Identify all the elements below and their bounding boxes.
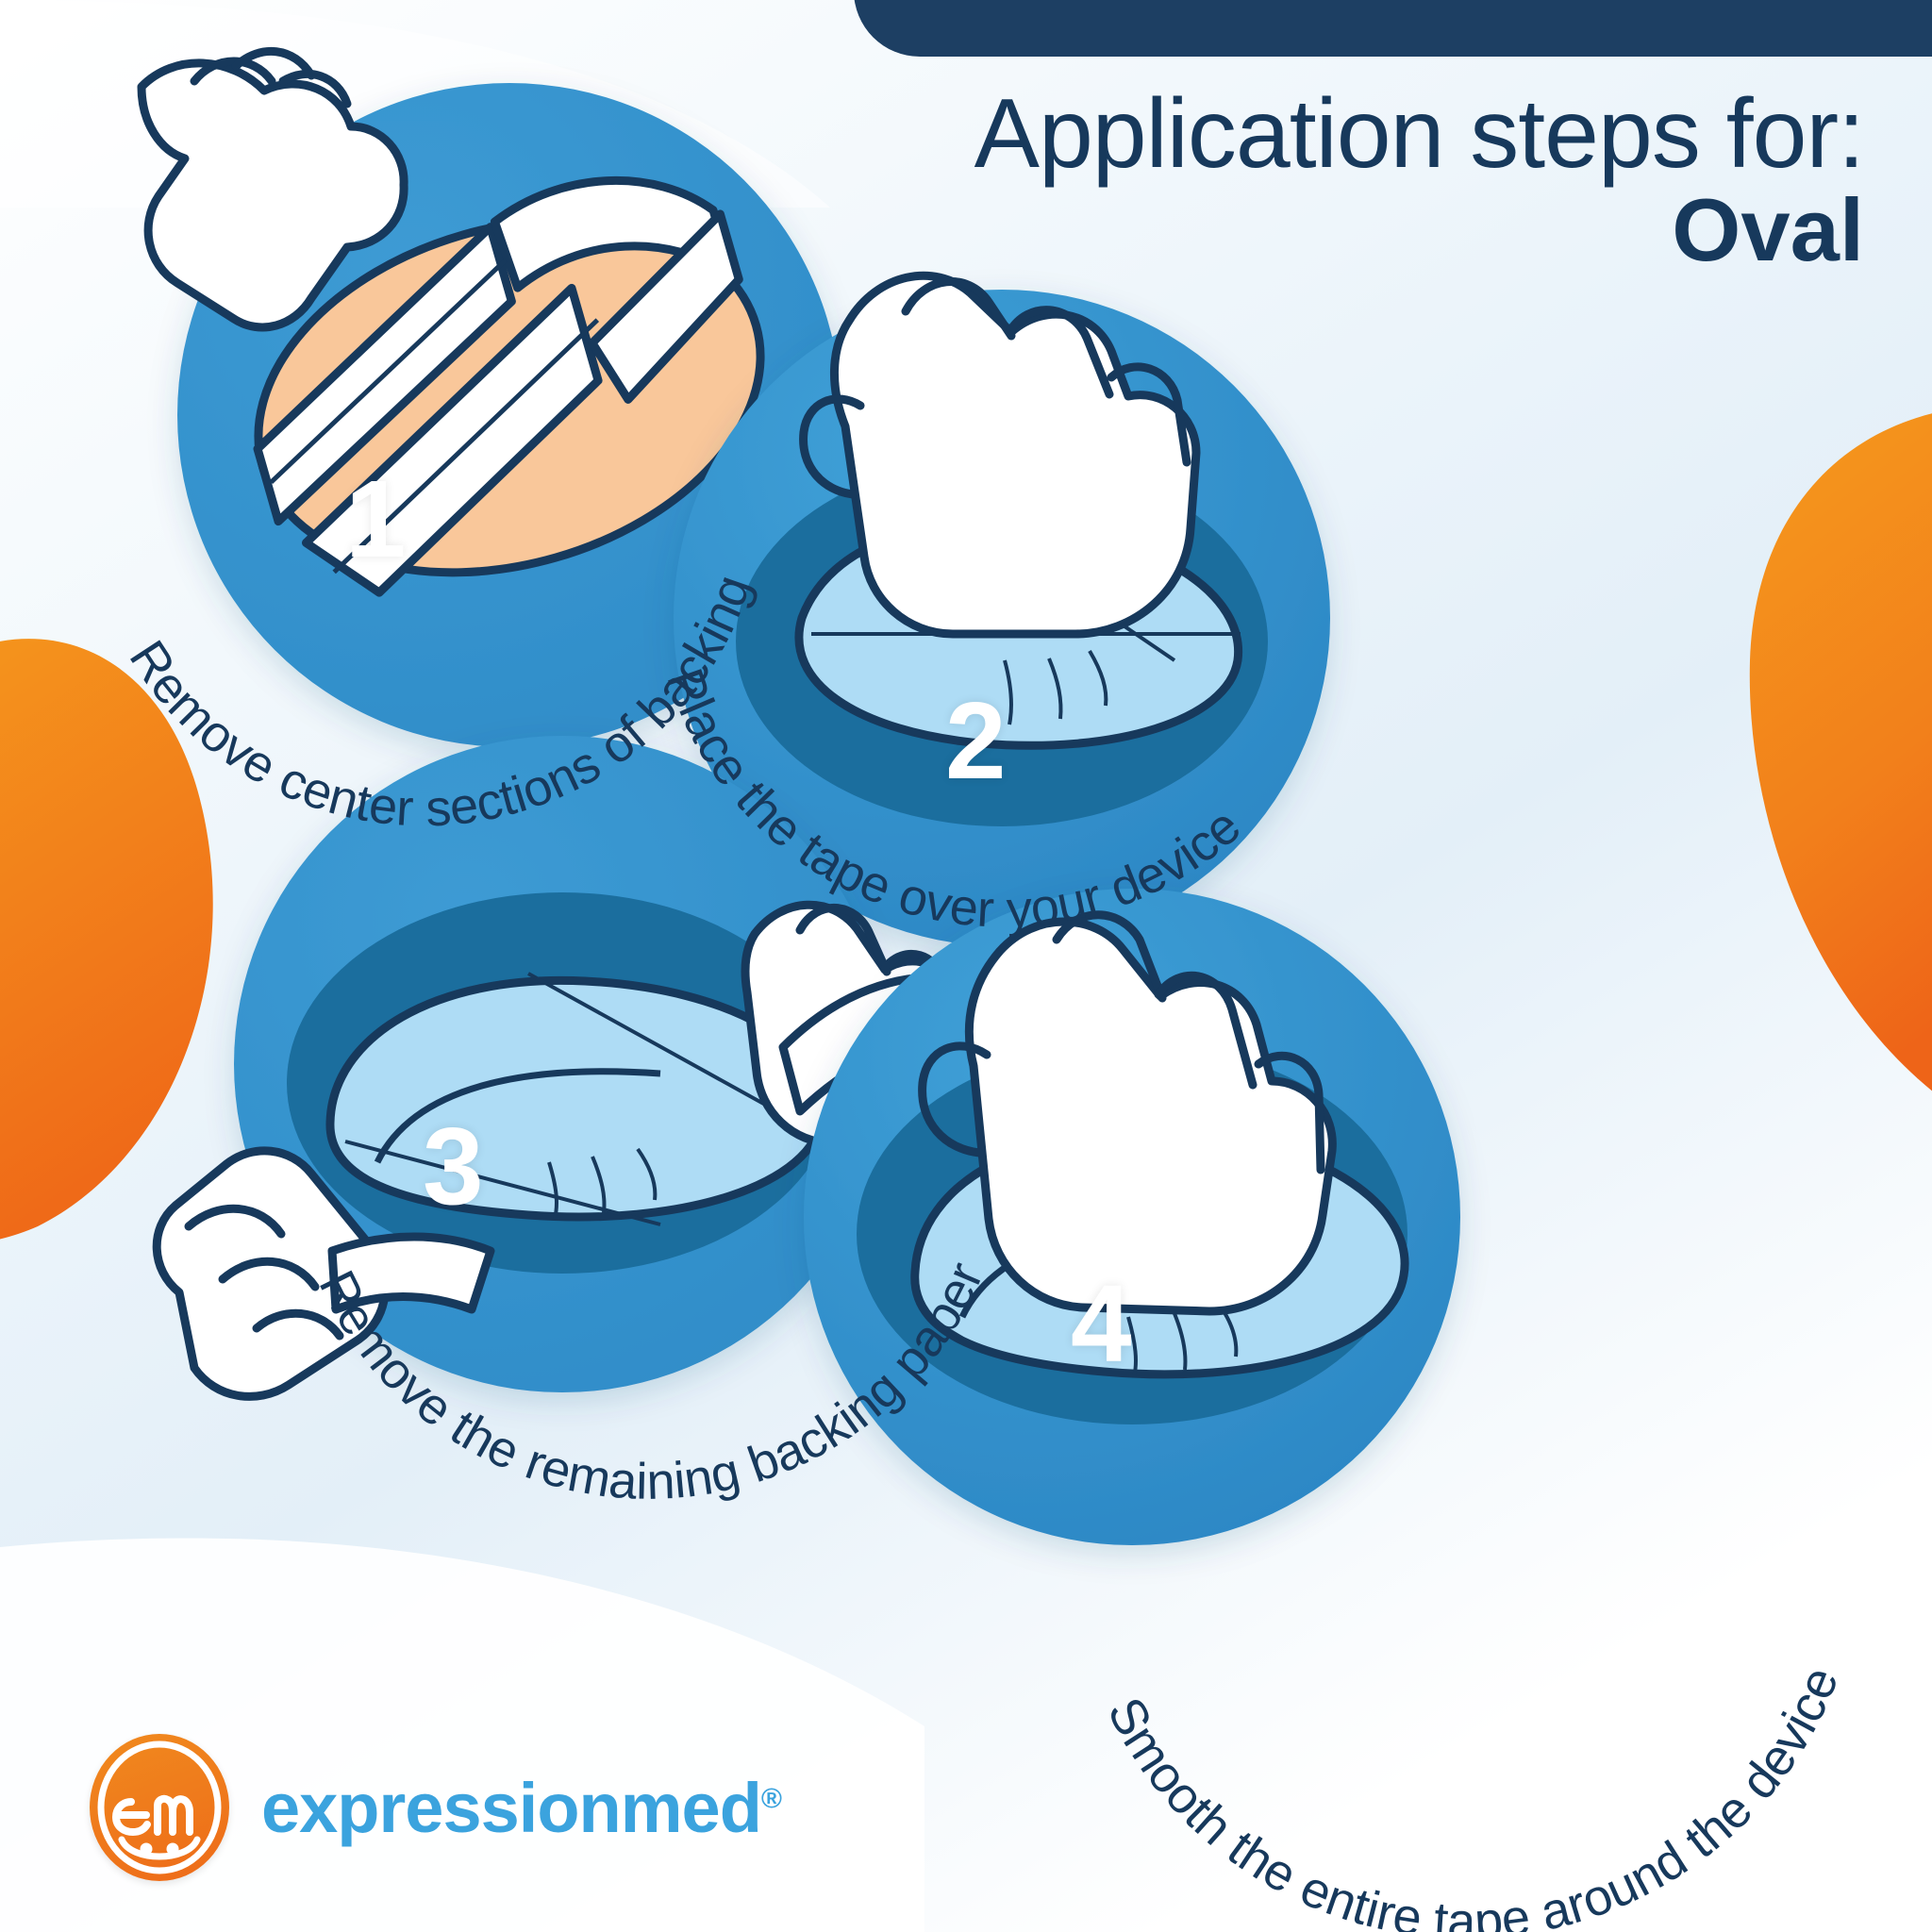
registered-trademark-icon: ® [761,1783,781,1814]
step-2-number: 2 [945,686,1007,795]
step-4-number: 4 [1071,1269,1132,1378]
brand-wordmark: expressionmed® [261,1768,781,1848]
steps-illustrations: Remove center sections of backing paper … [0,0,1932,1932]
step-1-number: 1 [345,464,407,574]
em-smiley-logo-icon [90,1734,229,1881]
brand-logo[interactable]: expressionmed® [90,1734,781,1881]
brand-name-text: expressionmed [261,1769,761,1847]
step-4-caption: Smooth the entire tape around the device [1096,1659,1849,1932]
em-smiley-glyph [90,1734,229,1881]
step-4-group[interactable] [804,889,1460,1545]
infographic-canvas: Application steps for: Oval [0,0,1932,1932]
step-3-number: 3 [423,1111,484,1221]
